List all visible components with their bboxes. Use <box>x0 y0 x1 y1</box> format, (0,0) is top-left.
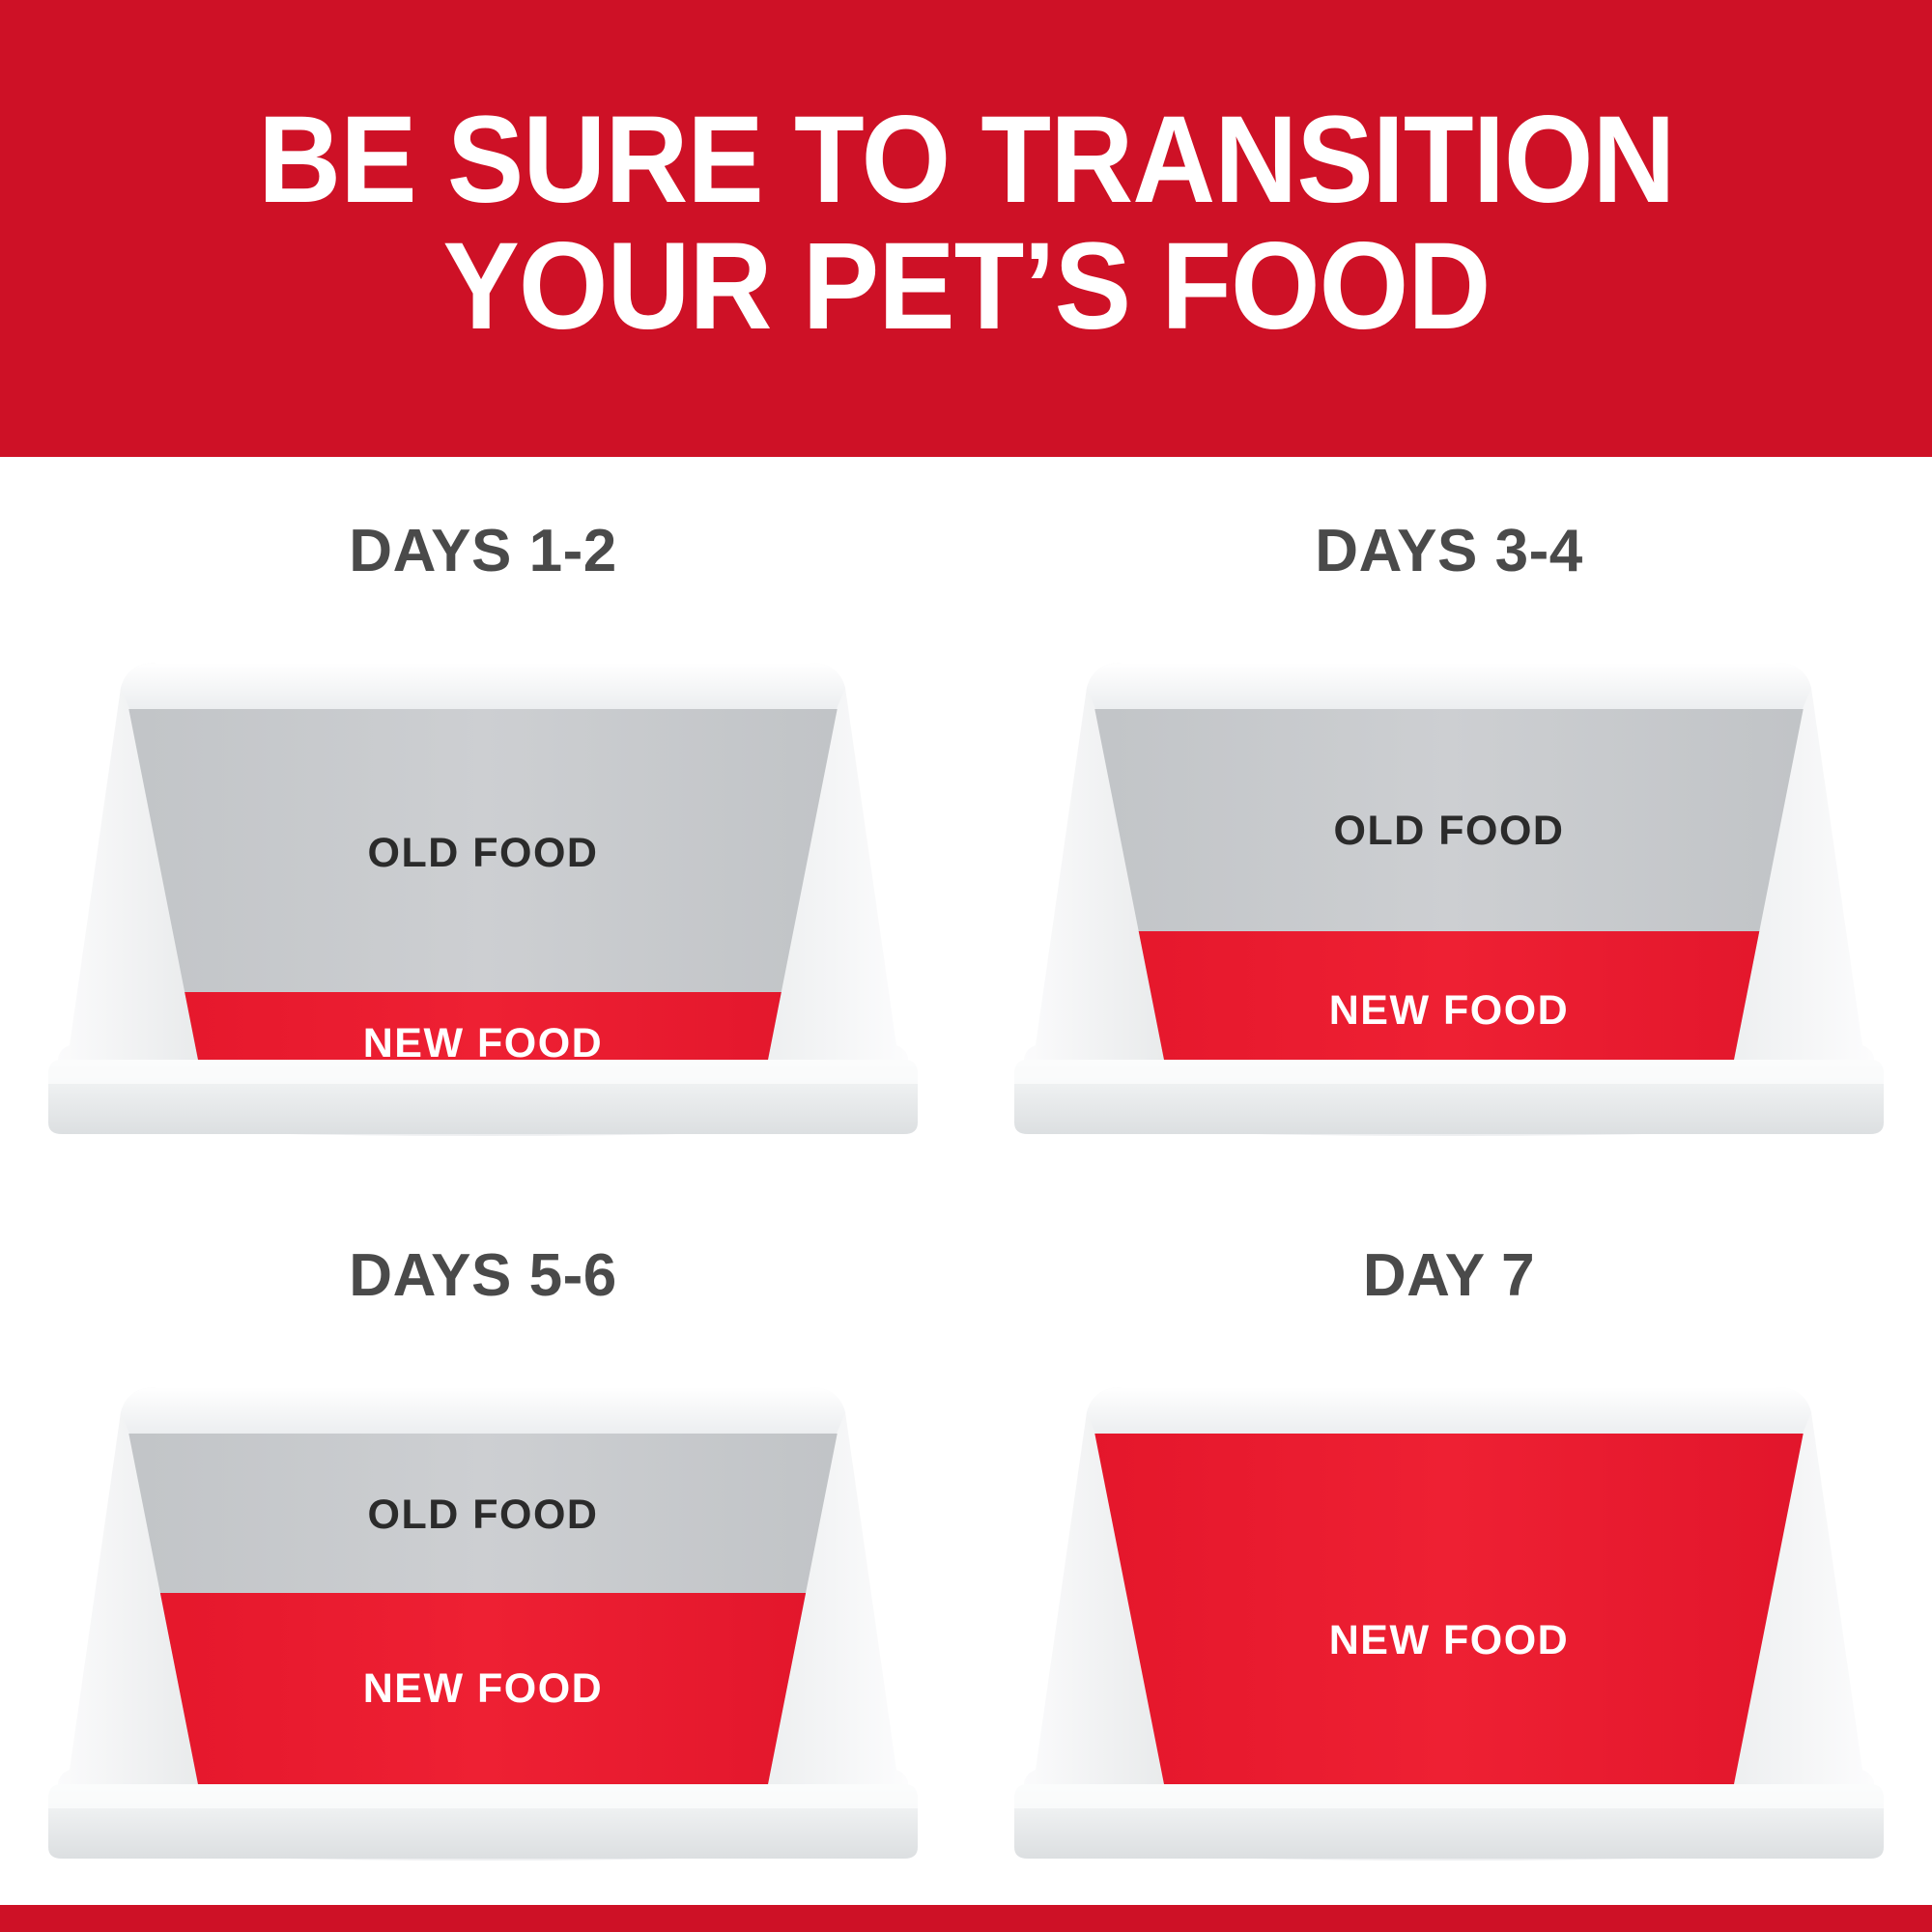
bowl-days-1-2: OLD FOOD NEW FOOD <box>19 620 947 1161</box>
bowl-illustration-days-3-4: OLD FOOD NEW FOOD <box>985 620 1913 1161</box>
bowl-base-highlight <box>1014 1784 1884 1808</box>
header-banner: BE SURE TO TRANSITION YOUR PET’S FOOD <box>0 0 1932 457</box>
stage-card-days-5-6: DAYS 5-6 <box>0 1181 966 1906</box>
stage-label-days-3-4: DAYS 3-4 <box>1315 517 1582 585</box>
old-food-label-days-1-2: OLD FOOD <box>368 830 599 876</box>
new-food-label-day-7: NEW FOOD <box>1329 1617 1569 1663</box>
bowl-days-3-4: OLD FOOD NEW FOOD <box>985 620 1913 1161</box>
bowl-rim <box>121 663 845 709</box>
bowl-base-highlight <box>1014 1060 1884 1084</box>
new-food-label-days-5-6: NEW FOOD <box>363 1665 603 1712</box>
stages-grid: DAYS 1-2 <box>0 457 1932 1905</box>
bowl-illustration-days-1-2: OLD FOOD NEW FOOD <box>19 620 947 1161</box>
stage-label-days-5-6: DAYS 5-6 <box>349 1241 616 1310</box>
bowl-day-7: NEW FOOD <box>985 1345 1913 1886</box>
old-food-label-days-3-4: OLD FOOD <box>1334 808 1565 854</box>
bowl-rim <box>1087 1387 1811 1434</box>
new-food-label-days-1-2: NEW FOOD <box>363 1020 603 1066</box>
bowl-days-5-6: OLD FOOD NEW FOOD <box>19 1345 947 1886</box>
new-food-label-days-3-4: NEW FOOD <box>1329 987 1569 1034</box>
footer-bar <box>0 1905 1932 1932</box>
stage-card-days-1-2: DAYS 1-2 <box>0 457 966 1181</box>
bowl-illustration-day-7: NEW FOOD <box>985 1345 1913 1886</box>
stage-label-day-7: DAY 7 <box>1363 1241 1535 1310</box>
stage-card-day-7: DAY 7 <box>966 1181 1932 1906</box>
bowl-rim <box>1087 663 1811 709</box>
bowl-rim <box>121 1387 845 1434</box>
stage-label-days-1-2: DAYS 1-2 <box>349 517 616 585</box>
stage-card-days-3-4: DAYS 3-4 <box>966 457 1932 1181</box>
old-food-label-days-5-6: OLD FOOD <box>368 1492 599 1538</box>
bowl-base-highlight <box>48 1784 918 1808</box>
page-title: BE SURE TO TRANSITION YOUR PET’S FOOD <box>204 98 1728 350</box>
bowl-illustration-days-5-6: OLD FOOD NEW FOOD <box>19 1345 947 1886</box>
